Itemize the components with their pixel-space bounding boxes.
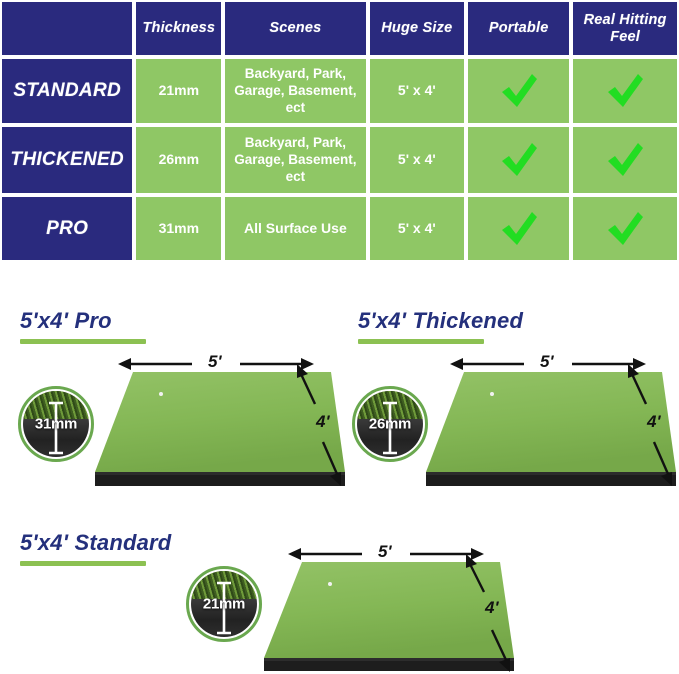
table-header-row: Thickness Scenes Huge Size Portable Real…: [0, 0, 679, 57]
row-label-standard: STANDARD: [0, 57, 134, 125]
check-icon: [605, 211, 645, 247]
check-icon: [605, 142, 645, 178]
cell-pro-thickness: 31mm: [134, 195, 223, 262]
width-dimension-label-thickened: 5': [540, 352, 554, 372]
table-row: THICKENED 26mm Backyard, Park, Garage, B…: [0, 125, 679, 196]
width-dimension-label-pro: 5': [208, 352, 222, 372]
cell-pro-scenes: All Surface Use: [223, 195, 367, 262]
product-panel-standard: 5'x4' Standard 5' 4': [20, 530, 660, 666]
badge-thickness-text: 26mm: [357, 416, 423, 433]
comparison-table: Thickness Scenes Huge Size Portable Real…: [0, 0, 679, 262]
thickness-badge-standard: 21mm: [186, 566, 262, 642]
table-row: STANDARD 21mm Backyard, Park, Garage, Ba…: [0, 57, 679, 125]
cell-standard-scenes: Backyard, Park, Garage, Basement, ect: [223, 57, 367, 125]
cell-thickened-huge-size: 5' x 4': [368, 125, 467, 196]
panel-title-thickened: 5'x4' Thickened: [358, 308, 678, 334]
badge-thickness-text: 31mm: [23, 416, 89, 433]
row-label-thickened: THICKENED: [0, 125, 134, 196]
cell-standard-thickness: 21mm: [134, 57, 223, 125]
thickness-badge-thickened: 26mm: [352, 386, 428, 462]
header-cell-real-hitting-feel: Real Hitting Feel: [571, 0, 679, 57]
cell-thickened-portable: [466, 125, 571, 196]
cell-standard-real-hitting-feel: [571, 57, 679, 125]
title-underline: [358, 339, 484, 344]
header-cell-scenes: Scenes: [223, 0, 367, 57]
header-cell-portable: Portable: [466, 0, 571, 57]
depth-dimension-label-thickened: 4': [647, 412, 661, 432]
header-cell-thickness: Thickness: [134, 0, 223, 57]
header-cell-blank: [0, 0, 134, 57]
title-underline: [20, 561, 146, 566]
check-icon: [499, 211, 539, 247]
check-icon: [499, 142, 539, 178]
width-dimension-label-standard: 5': [378, 542, 392, 562]
table-row: PRO 31mm All Surface Use 5' x 4': [0, 195, 679, 262]
title-underline: [20, 339, 146, 344]
cell-pro-portable: [466, 195, 571, 262]
cell-standard-huge-size: 5' x 4': [368, 57, 467, 125]
row-label-pro: PRO: [0, 195, 134, 262]
badge-inner: 31mm: [23, 391, 89, 457]
badge-inner: 26mm: [357, 391, 423, 457]
depth-dimension-label-standard: 4': [485, 598, 499, 618]
badge-thickness-text: 21mm: [191, 596, 257, 613]
cell-standard-portable: [466, 57, 571, 125]
cell-thickened-scenes: Backyard, Park, Garage, Basement, ect: [223, 125, 367, 196]
cell-thickened-real-hitting-feel: [571, 125, 679, 196]
thickness-badge-pro: 31mm: [18, 386, 94, 462]
panel-title-pro: 5'x4' Pro: [20, 308, 340, 334]
cell-pro-huge-size: 5' x 4': [368, 195, 467, 262]
badge-inner: 21mm: [191, 571, 257, 637]
check-icon: [499, 73, 539, 109]
product-panel-thickened: 5'x4' Thickened 5' 4': [358, 308, 678, 508]
depth-dimension-label-pro: 4': [316, 412, 330, 432]
cell-thickened-thickness: 26mm: [134, 125, 223, 196]
header-cell-huge-size: Huge Size: [368, 0, 467, 57]
product-panel-pro: 5'x4' Pro 5' 4': [20, 308, 340, 508]
check-icon: [605, 73, 645, 109]
cell-pro-real-hitting-feel: [571, 195, 679, 262]
